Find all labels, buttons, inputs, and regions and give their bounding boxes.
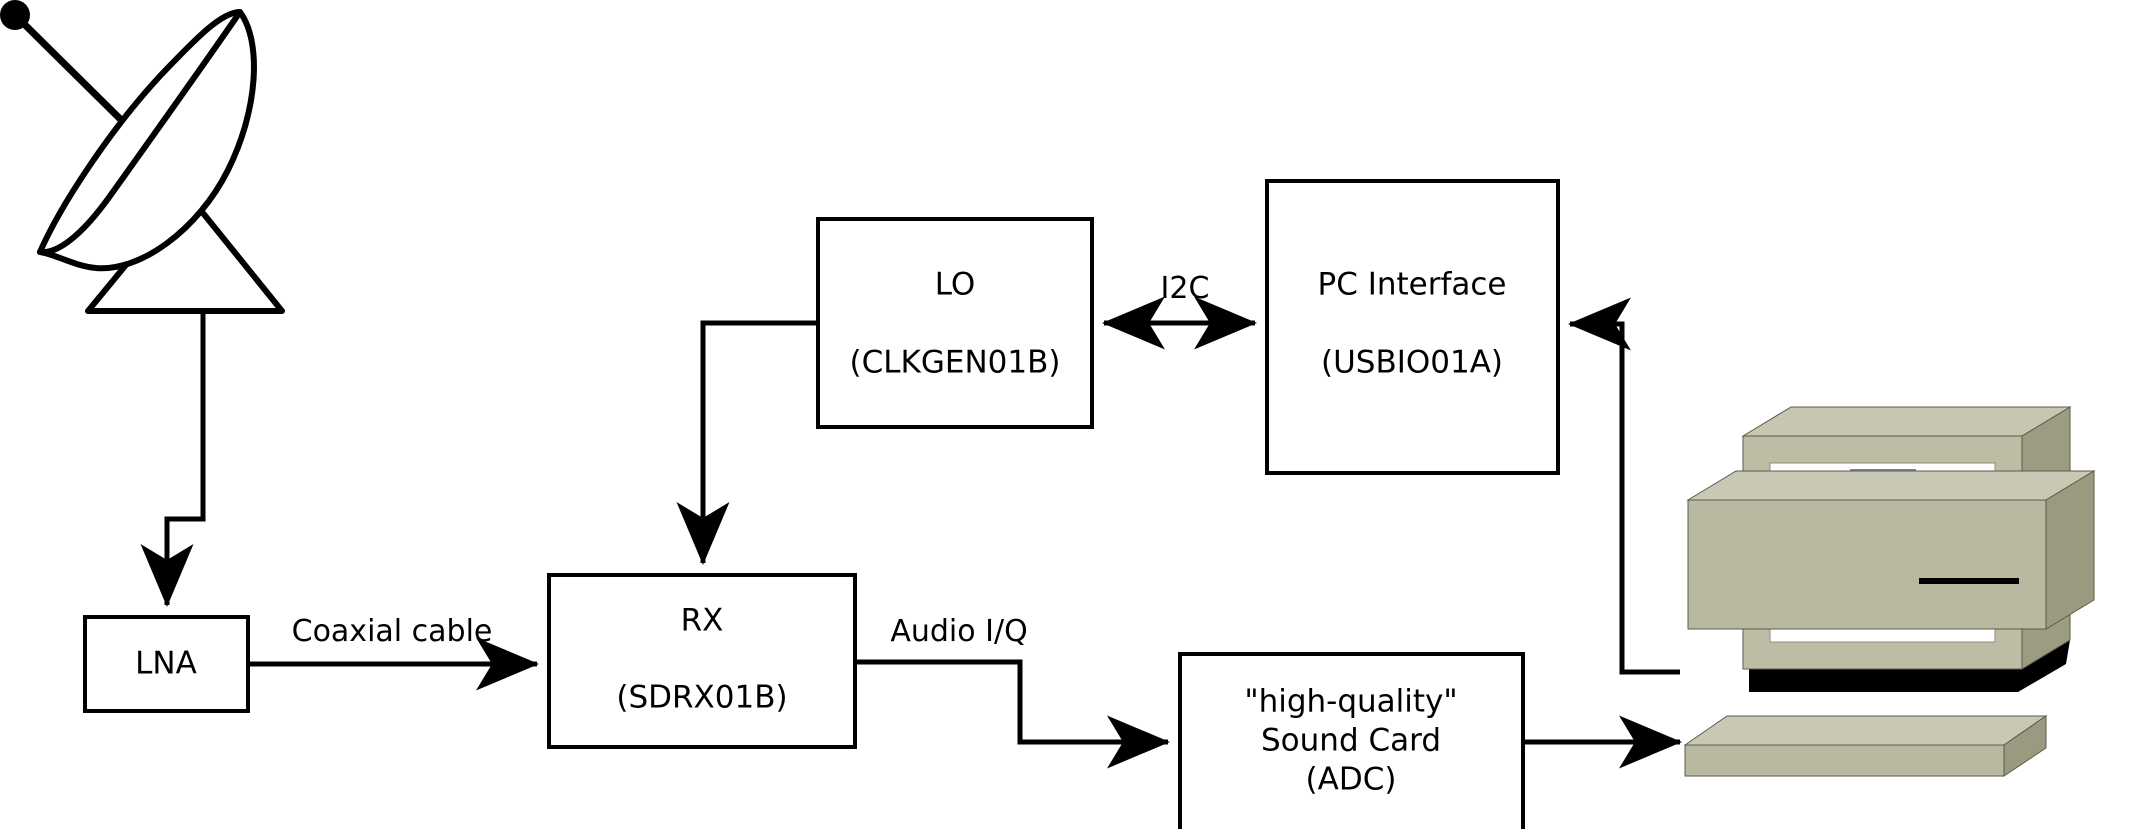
rx-label-line1: RX: [681, 603, 724, 639]
keyboard-front: [1685, 745, 2004, 776]
monitor-top-bevel: [1743, 407, 2070, 436]
sound-card-label-line3: (ADC): [1306, 762, 1397, 798]
edge-lna-to-rx: Coaxial cable: [248, 614, 537, 664]
edge-label-i2c: I2C: [1161, 271, 1210, 306]
block-pc-interface[interactable]: PC Interface (USBIO01A): [1267, 181, 1558, 473]
rx-label-line2: (SDRX01B): [616, 680, 787, 716]
block-sound-card[interactable]: "high-quality" Sound Card (ADC): [1180, 654, 1523, 829]
edge-label-audio-iq: Audio I/Q: [890, 614, 1027, 649]
desktop-computer: [1685, 407, 2094, 776]
floppy-drive-slot[interactable]: [1919, 578, 2019, 584]
pc-interface-label-line1: PC Interface: [1318, 267, 1507, 303]
diagram-svg: LNA Coaxial cable RX (SDRX01B) LO (CLKGE…: [0, 0, 2137, 829]
keyboard-top[interactable]: [1685, 716, 2046, 745]
block-lna[interactable]: LNA: [85, 617, 248, 711]
edge-label-coaxial-cable: Coaxial cable: [292, 614, 493, 649]
case-front-face: [1688, 500, 2046, 629]
edge-lo-to-pc-interface: I2C: [1104, 271, 1255, 323]
feed-horn-icon: [0, 0, 30, 30]
edge-antenna-to-lna: [167, 313, 203, 605]
pc-interface-label-line2: (USBIO01A): [1321, 345, 1503, 381]
lo-label-line2: (CLKGEN01B): [850, 345, 1061, 381]
sound-card-label-line1: "high-quality": [1244, 684, 1457, 720]
block-lo[interactable]: LO (CLKGEN01B): [818, 219, 1092, 427]
edge-rx-to-sound-card: Audio I/Q: [855, 614, 1168, 742]
case-top-bevel: [1688, 471, 2094, 500]
lo-label-line1: LO: [935, 267, 976, 303]
block-diagram-canvas: LNA Coaxial cable RX (SDRX01B) LO (CLKGE…: [0, 0, 2137, 829]
sound-card-label-line2: Sound Card: [1261, 723, 1441, 759]
edge-computer-to-pc-interface: [1570, 324, 1680, 672]
lna-label: LNA: [135, 646, 197, 682]
block-rx[interactable]: RX (SDRX01B): [549, 575, 855, 747]
parabolic-dish-antenna: [0, 0, 282, 311]
edge-lo-to-rx: [703, 323, 818, 563]
